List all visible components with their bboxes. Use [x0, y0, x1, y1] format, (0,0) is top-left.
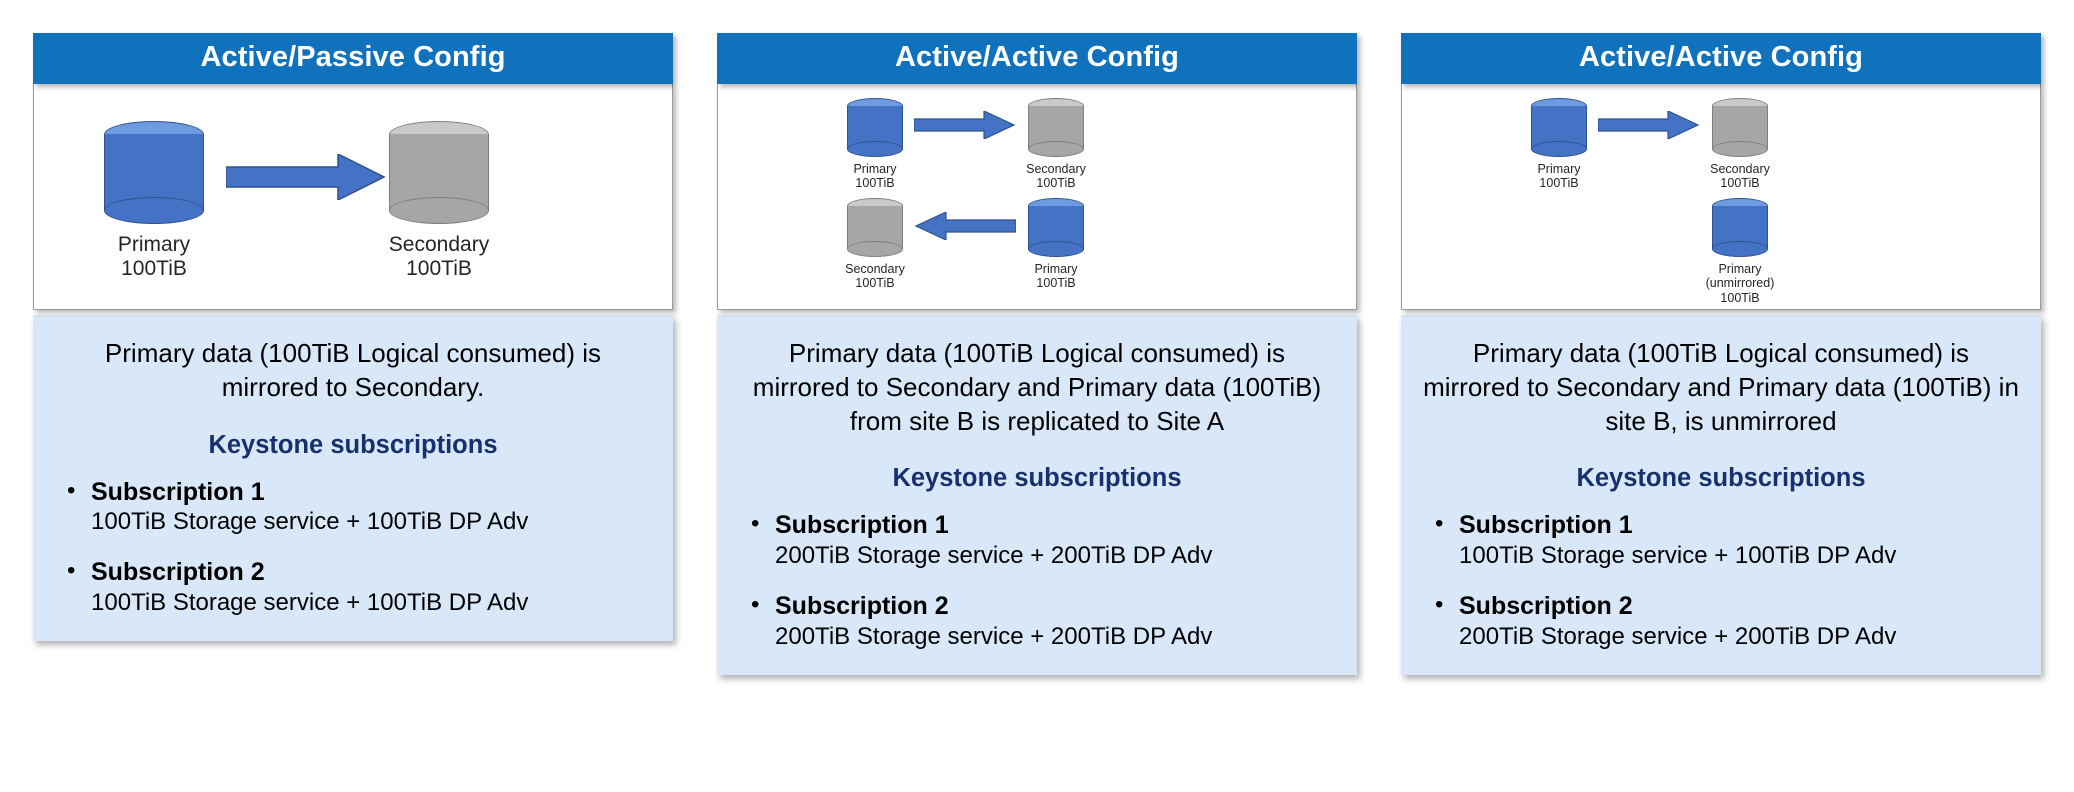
panel-header-title: Active/Active Config: [1401, 33, 2041, 84]
subscription-list: Subscription 1 200TiB Storage service + …: [731, 511, 1343, 651]
subscription-detail: 200TiB Storage service + 200TiB DP Adv: [1459, 622, 2027, 651]
panel-description: Primary data (100TiB Logical consumed) i…: [53, 337, 653, 405]
replication-arrow-right: [914, 111, 1016, 139]
cylinder-secondary-site-b-label: Secondary100TiB: [1630, 162, 1850, 191]
panel-body-active-active-unmirrored: Primary data (100TiB Logical consumed) i…: [1401, 315, 2041, 675]
cylinder-secondary-site-a: Secondary100TiB: [847, 198, 903, 256]
configuration-comparison-board: Active/Passive Config Primary100TiB: [0, 0, 2074, 792]
panel-header-title: Active/Active Config: [717, 33, 1357, 84]
panel-active-passive: Active/Passive Config Primary100TiB: [33, 33, 673, 641]
panel-active-active-unmirrored: Active/Active Config Primary100TiB: [1401, 33, 2041, 675]
subscription-detail: 100TiB Storage service + 100TiB DP Adv: [1459, 541, 2027, 570]
replication-arrow-left: [914, 212, 1016, 240]
panel-active-active: Active/Active Config Primary100TiB: [717, 33, 1357, 675]
subscription-title: Subscription 1: [1459, 511, 2027, 541]
list-item: Subscription 1 100TiB Storage service + …: [65, 478, 659, 537]
subscription-title: Subscription 2: [91, 558, 659, 588]
subscription-title: Subscription 1: [775, 511, 1343, 541]
subscription-detail: 100TiB Storage service + 100TiB DP Adv: [91, 507, 659, 536]
cylinder-primary-site-a: Primary100TiB: [847, 98, 903, 156]
cylinder-secondary-site-b: Secondary100TiB: [1028, 98, 1084, 156]
diagram-active-active-unmirrored: Primary100TiB Secondary100TiB: [1401, 84, 2041, 310]
keystone-subscriptions-heading: Keystone subscriptions: [731, 464, 1343, 493]
keystone-subscriptions-heading: Keystone subscriptions: [47, 431, 659, 460]
list-item: Subscription 2 100TiB Storage service + …: [65, 558, 659, 617]
cylinder-secondary-label: Secondary100TiB: [329, 233, 549, 281]
panel-body-active-active: Primary data (100TiB Logical consumed) i…: [717, 315, 1357, 675]
list-item: Subscription 1 100TiB Storage service + …: [1433, 511, 2027, 570]
subscription-title: Subscription 2: [775, 592, 1343, 622]
cylinder-secondary-site-b: Secondary100TiB: [1712, 98, 1768, 156]
subscription-detail: 100TiB Storage service + 100TiB DP Adv: [91, 588, 659, 617]
diagram-active-active: Primary100TiB Secondary100TiB: [717, 84, 1357, 310]
replication-arrow-right: [226, 154, 386, 200]
list-item: Subscription 2 200TiB Storage service + …: [749, 592, 1343, 651]
replication-arrow-right: [1598, 111, 1700, 139]
subscription-detail: 200TiB Storage service + 200TiB DP Adv: [775, 622, 1343, 651]
list-item: Subscription 1 200TiB Storage service + …: [749, 511, 1343, 570]
cylinder-secondary-site-b-label: Secondary100TiB: [946, 162, 1166, 191]
subscription-detail: 200TiB Storage service + 200TiB DP Adv: [775, 541, 1343, 570]
cylinder-secondary: Secondary100TiB: [389, 121, 489, 224]
panel-header-title: Active/Passive Config: [33, 33, 673, 84]
cylinder-primary-site-b-label: Primary100TiB: [946, 262, 1166, 291]
diagram-active-passive: Primary100TiB Secondary100TiB: [33, 84, 673, 310]
cylinder-primary-label: Primary100TiB: [44, 233, 264, 281]
cylinder-primary-unmirrored-label: Primary (unmirrored)100TiB: [1630, 262, 1850, 305]
subscription-list: Subscription 1 100TiB Storage service + …: [1415, 511, 2027, 651]
subscription-list: Subscription 1 100TiB Storage service + …: [47, 478, 659, 618]
cylinder-primary-site-a: Primary100TiB: [1531, 98, 1587, 156]
panel-description: Primary data (100TiB Logical consumed) i…: [1421, 337, 2021, 438]
keystone-subscriptions-heading: Keystone subscriptions: [1415, 464, 2027, 493]
cylinder-primary-site-b: Primary100TiB: [1028, 198, 1084, 256]
panel-body-active-passive: Primary data (100TiB Logical consumed) i…: [33, 315, 673, 641]
subscription-title: Subscription 1: [91, 478, 659, 508]
subscription-title: Subscription 2: [1459, 592, 2027, 622]
cylinder-primary-unmirrored: Primary (unmirrored)100TiB: [1712, 198, 1768, 256]
cylinder-primary: Primary100TiB: [104, 121, 204, 224]
list-item: Subscription 2 200TiB Storage service + …: [1433, 592, 2027, 651]
panel-description: Primary data (100TiB Logical consumed) i…: [737, 337, 1337, 438]
